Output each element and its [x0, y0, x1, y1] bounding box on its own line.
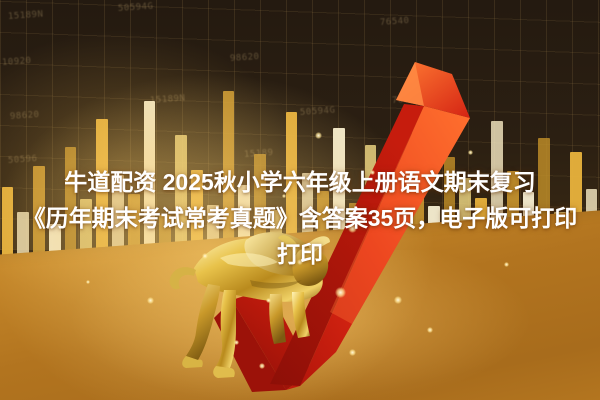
golden-bull-statue: [150, 210, 330, 385]
promo-banner: 15189N50594G98620765401092015189N50594G9…: [0, 0, 600, 400]
